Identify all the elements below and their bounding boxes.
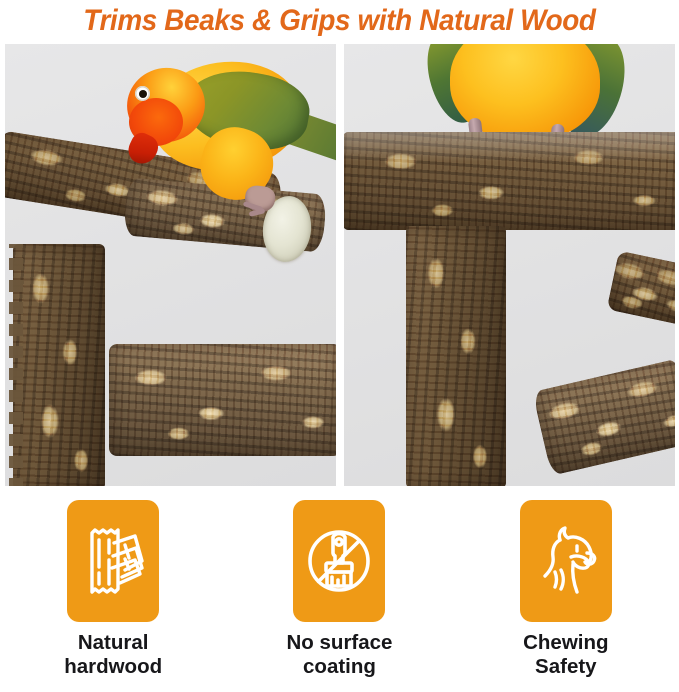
product-photo-parrot-feet-gripping (344, 44, 675, 486)
feature-tile (520, 500, 612, 622)
photo-row (0, 44, 679, 486)
page-title: Trims Beaks & Grips with Natural Wood (83, 4, 595, 38)
parrot-head-icon (530, 524, 602, 598)
product-photo-parrot-biting-perch (5, 44, 336, 486)
feature-natural-hardwood: Natural hardwood (0, 500, 226, 692)
feature-tile (67, 500, 159, 622)
feature-chewing-safety: Chewing Safety (453, 500, 679, 692)
trunk-notch-edge (9, 244, 23, 486)
wood-perch-horizontal (344, 132, 675, 230)
feature-label: Chewing Safety (523, 631, 608, 679)
feature-row: Natural hardwood (0, 500, 679, 692)
feature-tile (293, 500, 385, 622)
feature-label: Natural hardwood (64, 631, 162, 679)
no-paintbrush-icon (303, 525, 375, 597)
wood-trunk-post (13, 244, 105, 486)
feature-no-surface-coating: No surface coating (226, 500, 452, 692)
parrot-left (93, 54, 333, 224)
wood-branch-lower (109, 344, 336, 456)
wood-trunk-post (406, 226, 506, 486)
feature-label: No surface coating (287, 631, 393, 679)
wood-planks-icon (80, 523, 146, 599)
headline-bar: Trims Beaks & Grips with Natural Wood (0, 0, 679, 42)
parrot-pupil (139, 90, 147, 98)
